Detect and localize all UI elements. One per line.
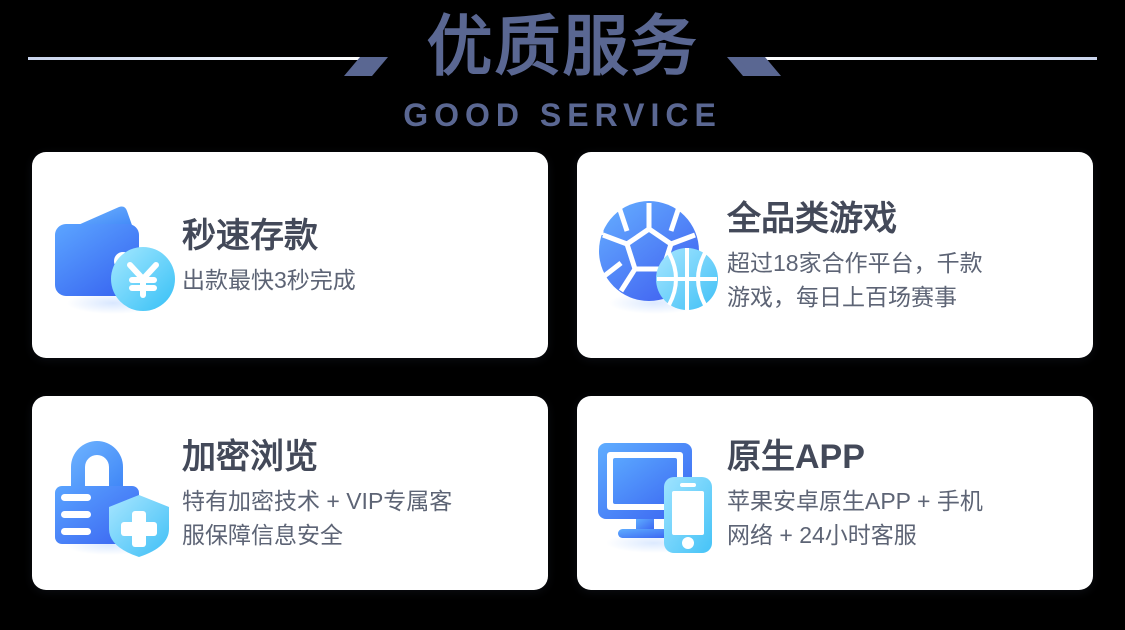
card-subtitle: 苹果安卓原生APP + 手机 网络 + 24小时客服 — [727, 484, 1075, 552]
service-card-games[interactable]: 全品类游戏 超过18家合作平台，千款 游戏，每日上百场赛事 — [577, 152, 1093, 358]
service-card-encryption[interactable]: 加密浏览 特有加密技术 + VIP专属客 服保障信息安全 — [32, 396, 548, 590]
card-subtitle-line: 出款最快3秒完成 — [182, 263, 530, 297]
card-text-block: 全品类游戏 超过18家合作平台，千款 游戏，每日上百场赛事 — [727, 197, 1093, 314]
card-subtitle-line: 超过18家合作平台，千款 — [727, 246, 1075, 280]
monitor-phone-icon — [577, 433, 727, 553]
page-subtitle: GOOD SERVICE — [0, 96, 1125, 134]
card-title: 全品类游戏 — [727, 197, 1075, 241]
card-subtitle: 超过18家合作平台，千款 游戏，每日上百场赛事 — [727, 246, 1075, 314]
card-text-block: 加密浏览 特有加密技术 + VIP专属客 服保障信息安全 — [182, 435, 548, 552]
card-subtitle-line: 游戏，每日上百场赛事 — [727, 280, 1075, 314]
card-subtitle: 特有加密技术 + VIP专属客 服保障信息安全 — [182, 484, 530, 552]
card-title: 秒速存款 — [182, 214, 530, 258]
card-subtitle-line: 特有加密技术 + VIP专属客 — [182, 484, 530, 518]
card-title: 原生APP — [727, 435, 1075, 479]
card-title: 加密浏览 — [182, 435, 530, 479]
service-card-grid: 秒速存款 出款最快3秒完成 — [32, 152, 1093, 592]
wallet-yen-icon — [32, 191, 182, 319]
card-subtitle-line: 苹果安卓原生APP + 手机 — [727, 484, 1075, 518]
card-text-block: 原生APP 苹果安卓原生APP + 手机 网络 + 24小时客服 — [727, 435, 1093, 552]
page-header: 优质服务 GOOD SERVICE — [0, 0, 1125, 146]
service-card-native-app[interactable]: 原生APP 苹果安卓原生APP + 手机 网络 + 24小时客服 — [577, 396, 1093, 590]
soccer-basketball-icon — [577, 191, 727, 319]
card-subtitle-line: 网络 + 24小时客服 — [727, 518, 1075, 552]
lock-shield-icon — [32, 429, 182, 557]
service-card-deposit[interactable]: 秒速存款 出款最快3秒完成 — [32, 152, 548, 358]
card-text-block: 秒速存款 出款最快3秒完成 — [182, 214, 548, 297]
page-title: 优质服务 — [0, 6, 1125, 86]
card-subtitle-line: 服保障信息安全 — [182, 518, 530, 552]
card-subtitle: 出款最快3秒完成 — [182, 263, 530, 297]
